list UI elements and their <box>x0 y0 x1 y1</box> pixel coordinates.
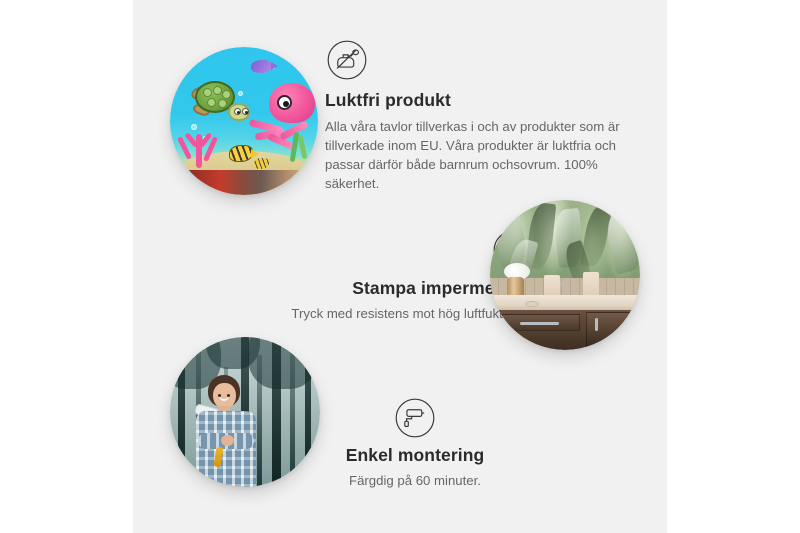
yellow-butterflyfish-icon <box>229 145 253 162</box>
feature-image-odourless[interactable] <box>170 47 318 195</box>
feature-image-waterproof[interactable] <box>490 200 640 350</box>
pink-coral-icon <box>176 124 228 168</box>
feature-title-waterproof: Stampa impermeabile <box>195 278 535 300</box>
feature-body-assembly: Färgdig på 60 minuter. <box>285 471 545 490</box>
painter-hand <box>221 435 234 446</box>
photo-bottom-strip <box>170 170 318 195</box>
plaid-shirt <box>196 411 256 487</box>
paint-roller-icon <box>393 396 437 440</box>
no-fragrance-spray-icon <box>325 38 369 82</box>
feature-block-odourless: Luktfri produkt Alla våra tavlor tillver… <box>325 38 625 193</box>
feature-title-odourless: Luktfri produkt <box>325 90 625 112</box>
sea-turtle-icon <box>189 81 247 123</box>
feature-block-waterproof: Stampa impermeabile Tryck med resistens … <box>195 228 535 323</box>
tree-trunk <box>178 337 185 487</box>
feature-block-assembly: Enkel montering Färgdig på 60 minuter. <box>285 396 545 490</box>
octopus-icon <box>253 83 315 145</box>
product-feature-panel: Luktfri produkt Alla våra tavlor tillver… <box>133 0 667 533</box>
painter-person <box>191 375 265 487</box>
tree-trunk <box>272 337 281 487</box>
underwater-kids-mural-photo <box>170 47 318 195</box>
wood-vanity-cabinet <box>490 310 640 351</box>
feature-body-waterproof: Tryck med resistens mot hög luftfuktighe… <box>195 304 535 323</box>
soap-dish <box>525 301 539 307</box>
bathroom-tropical-wallpaper-photo <box>490 200 640 350</box>
feature-title-assembly: Enkel montering <box>285 445 545 467</box>
feature-body-odourless: Alla våra tavlor tillverkas i och av pro… <box>325 117 625 194</box>
